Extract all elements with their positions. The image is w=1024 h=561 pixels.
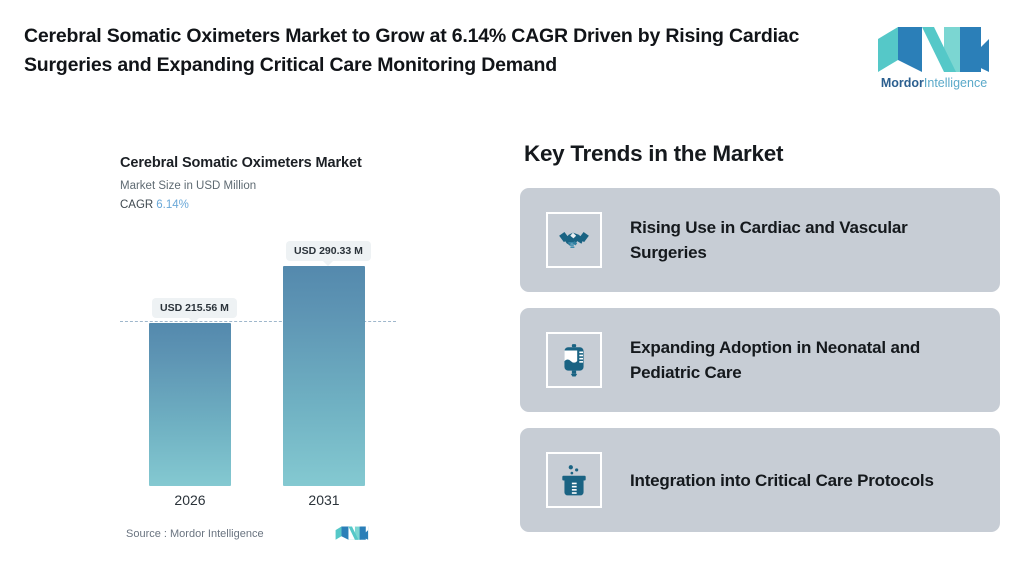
bar-2031 (283, 266, 365, 486)
trends-title: Key Trends in the Market (524, 141, 783, 167)
chart-title: Cerebral Somatic Oximeters Market (120, 155, 362, 171)
brand-logo: MordorIntelligence (868, 25, 1000, 97)
chart-subtitle: Market Size in USD Million (120, 180, 256, 192)
trend-icon-frame (546, 452, 602, 508)
beaker-icon (557, 463, 591, 497)
market-size-bar-chart: Cerebral Somatic Oximeters Market Market… (0, 0, 440, 561)
trend-card[interactable]: Integration into Critical Care Protocols (520, 428, 1000, 532)
chart-cagr: CAGR6.14% (120, 199, 189, 211)
x-axis-label-2026: 2026 (135, 492, 245, 508)
handshake-icon (557, 223, 591, 257)
bar-2026 (149, 323, 231, 486)
iv-drip-bag-icon (557, 343, 591, 377)
trend-icon-frame (546, 332, 602, 388)
trends-card-list: Rising Use in Cardiac and Vascular Surge… (520, 188, 1000, 548)
infographic-page: Cerebral Somatic Oximeters Market to Gro… (0, 0, 1024, 561)
x-axis-label-2031: 2031 (269, 492, 379, 508)
brand-wordmark: MordorIntelligence (868, 76, 1000, 91)
bar-value-label-2031: USD 290.33 M (286, 241, 371, 261)
trend-card-text: Rising Use in Cardiac and Vascular Surge… (630, 215, 980, 265)
trend-card[interactable]: Expanding Adoption in Neonatal and Pedia… (520, 308, 1000, 412)
trend-card-text: Integration into Critical Care Protocols (630, 468, 934, 493)
source-mordor-m-logo-icon (335, 524, 369, 542)
brand-name-primary: Mordor (881, 76, 924, 90)
trend-icon-frame (546, 212, 602, 268)
cagr-label: CAGR (120, 199, 153, 211)
bar-value-label-2026: USD 215.56 M (152, 298, 237, 318)
brand-name-secondary: Intelligence (924, 76, 987, 90)
trend-card[interactable]: Rising Use in Cardiac and Vascular Surge… (520, 188, 1000, 292)
cagr-value: 6.14% (156, 199, 189, 211)
chart-source: Source : Mordor Intelligence (126, 528, 264, 540)
mordor-m-logo-icon (876, 25, 992, 73)
trend-card-text: Expanding Adoption in Neonatal and Pedia… (630, 335, 980, 385)
